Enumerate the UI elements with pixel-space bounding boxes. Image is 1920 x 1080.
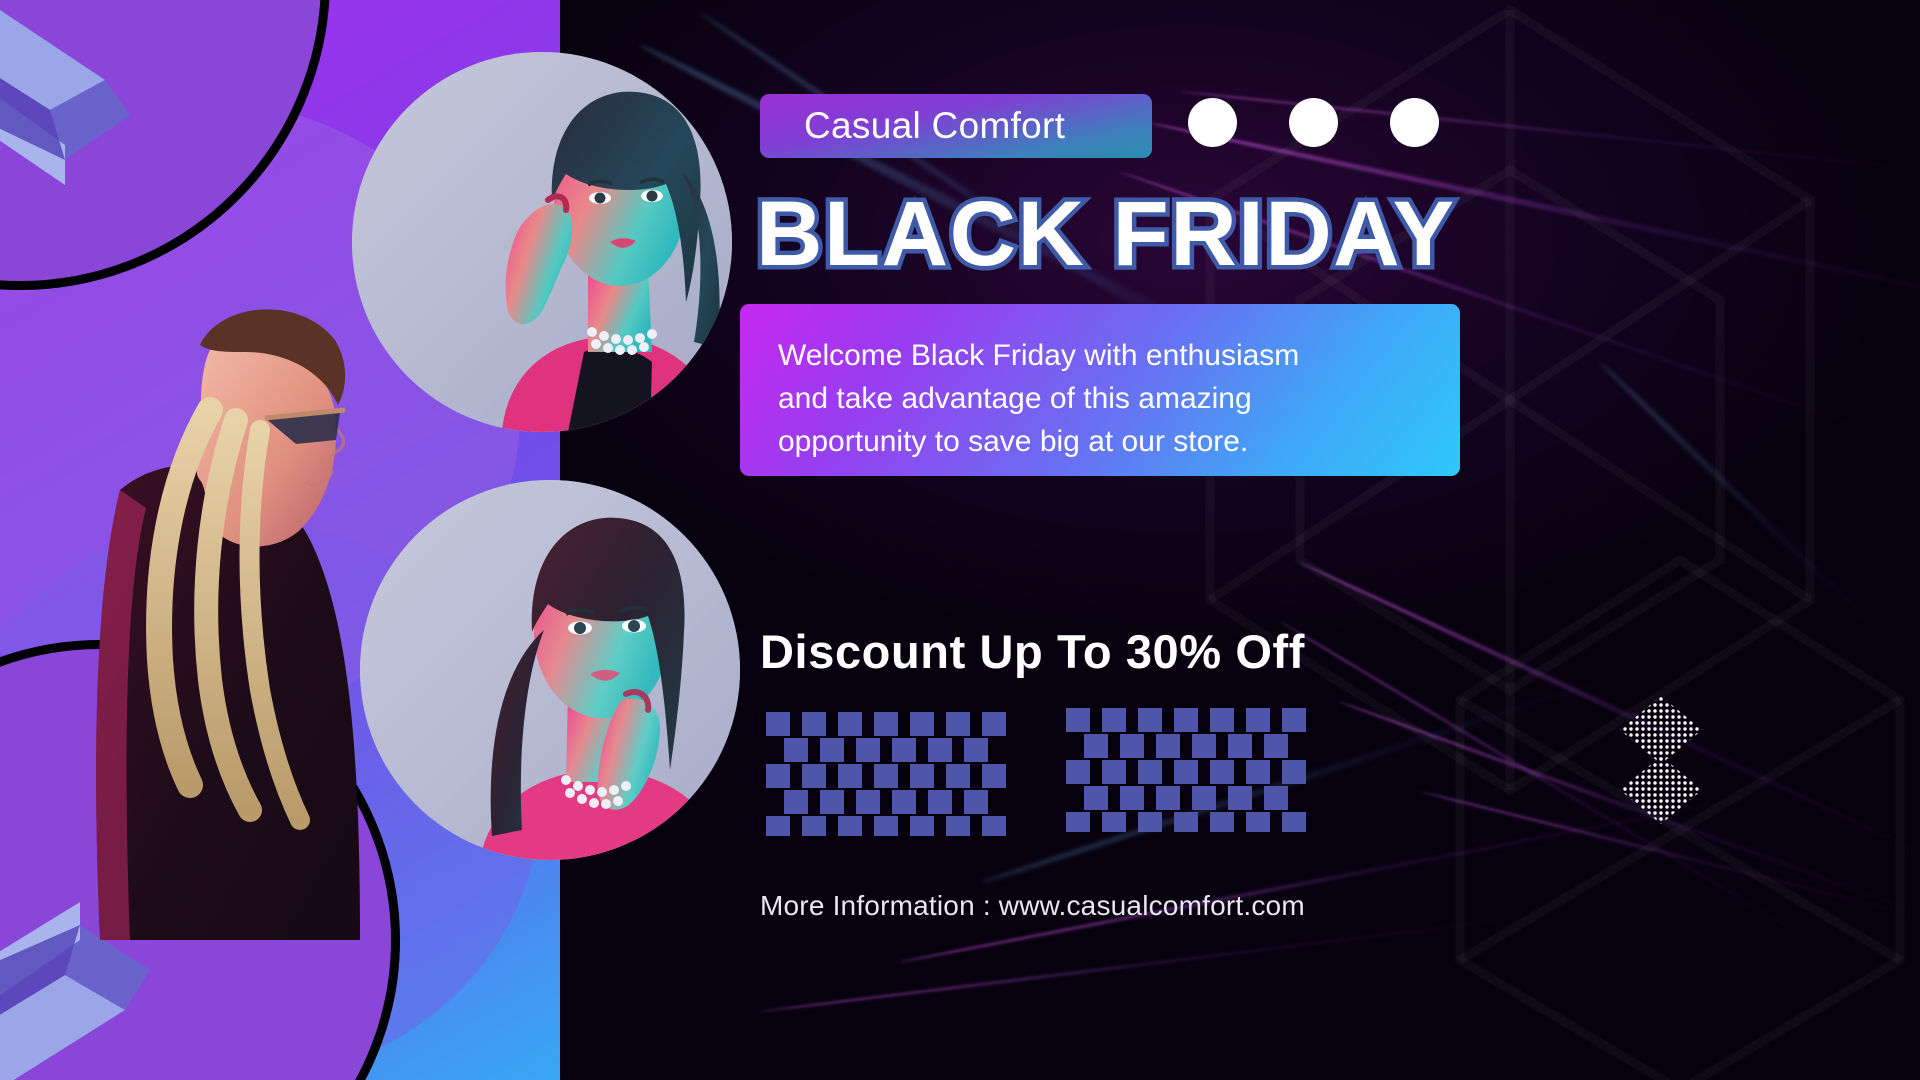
brand-badge[interactable]: Casual Comfort — [760, 94, 1152, 158]
black-friday-banner: Casual Comfort BLACK FRIDAY Welcome Blac… — [0, 0, 1920, 1080]
checker-left — [766, 712, 1026, 836]
dot-2-icon — [1289, 98, 1338, 147]
decorative-dots-group — [1188, 98, 1439, 147]
page-title: BLACK FRIDAY — [756, 188, 1920, 280]
dotted-diamond-ornament — [1616, 690, 1706, 830]
promo-line-2: and take advantage of this amazing — [778, 377, 1426, 420]
checker-right — [1066, 708, 1314, 832]
promo-line-3: opportunity to save big at our store. — [778, 420, 1426, 463]
brand-badge-label: Casual Comfort — [804, 105, 1065, 147]
promo-line-1: Welcome Black Friday with enthusiasm — [778, 334, 1426, 377]
dot-1-icon — [1188, 98, 1237, 147]
dot-3-icon — [1390, 98, 1439, 147]
penrose-triangle-top — [0, 0, 210, 210]
discount-headline: Discount Up To 30% Off — [760, 624, 1305, 679]
model-portrait-bottom — [360, 480, 740, 860]
more-information-text: More Information : www.casualcomfort.com — [760, 890, 1305, 922]
content-column: Casual Comfort BLACK FRIDAY Welcome Blac… — [760, 0, 1920, 1080]
promo-message-box: Welcome Black Friday with enthusiasm and… — [740, 304, 1460, 476]
model-portrait-top — [352, 52, 732, 432]
